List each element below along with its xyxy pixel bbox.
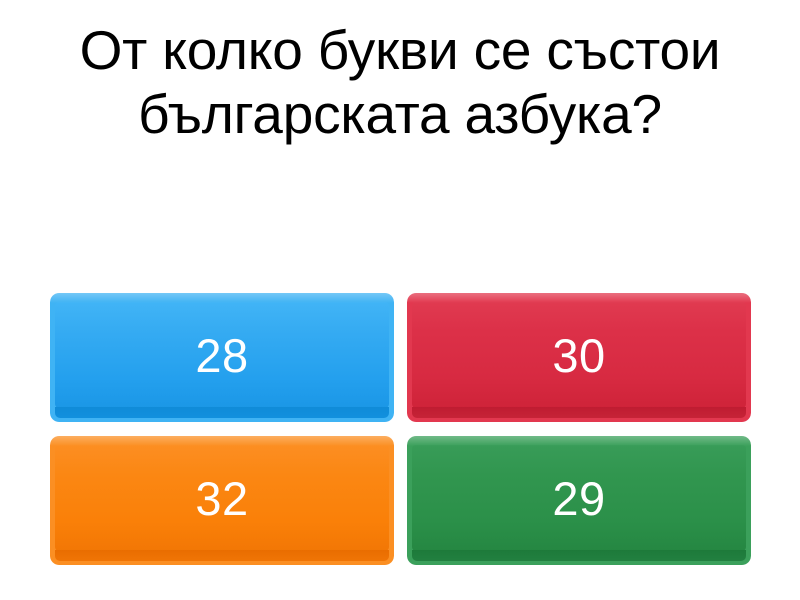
quiz-screen: От колко букви се състои българската азб… — [0, 0, 800, 600]
answer-option-2[interactable]: 30 — [407, 293, 751, 422]
answer-options-grid: 28 30 32 29 — [50, 293, 751, 565]
answer-option-3-bevel — [55, 550, 389, 561]
answer-option-3-label: 32 — [195, 475, 248, 522]
answer-option-2-label: 30 — [552, 332, 605, 379]
answer-option-3-panel: 32 — [55, 445, 389, 551]
answer-option-1[interactable]: 28 — [50, 293, 394, 422]
answer-option-2-panel: 30 — [412, 302, 746, 408]
answer-option-1-bevel — [55, 407, 389, 418]
answer-option-4-label: 29 — [552, 475, 605, 522]
answer-option-4-bevel — [412, 550, 746, 561]
question-area: От колко букви се състои българската азб… — [0, 0, 800, 285]
answer-option-1-label: 28 — [195, 332, 248, 379]
answer-option-2-bevel — [412, 407, 746, 418]
question-text: От колко букви се състои българската азб… — [20, 18, 780, 147]
answer-option-3[interactable]: 32 — [50, 436, 394, 565]
answer-option-1-panel: 28 — [55, 302, 389, 408]
answer-option-4[interactable]: 29 — [407, 436, 751, 565]
answer-option-4-panel: 29 — [412, 445, 746, 551]
